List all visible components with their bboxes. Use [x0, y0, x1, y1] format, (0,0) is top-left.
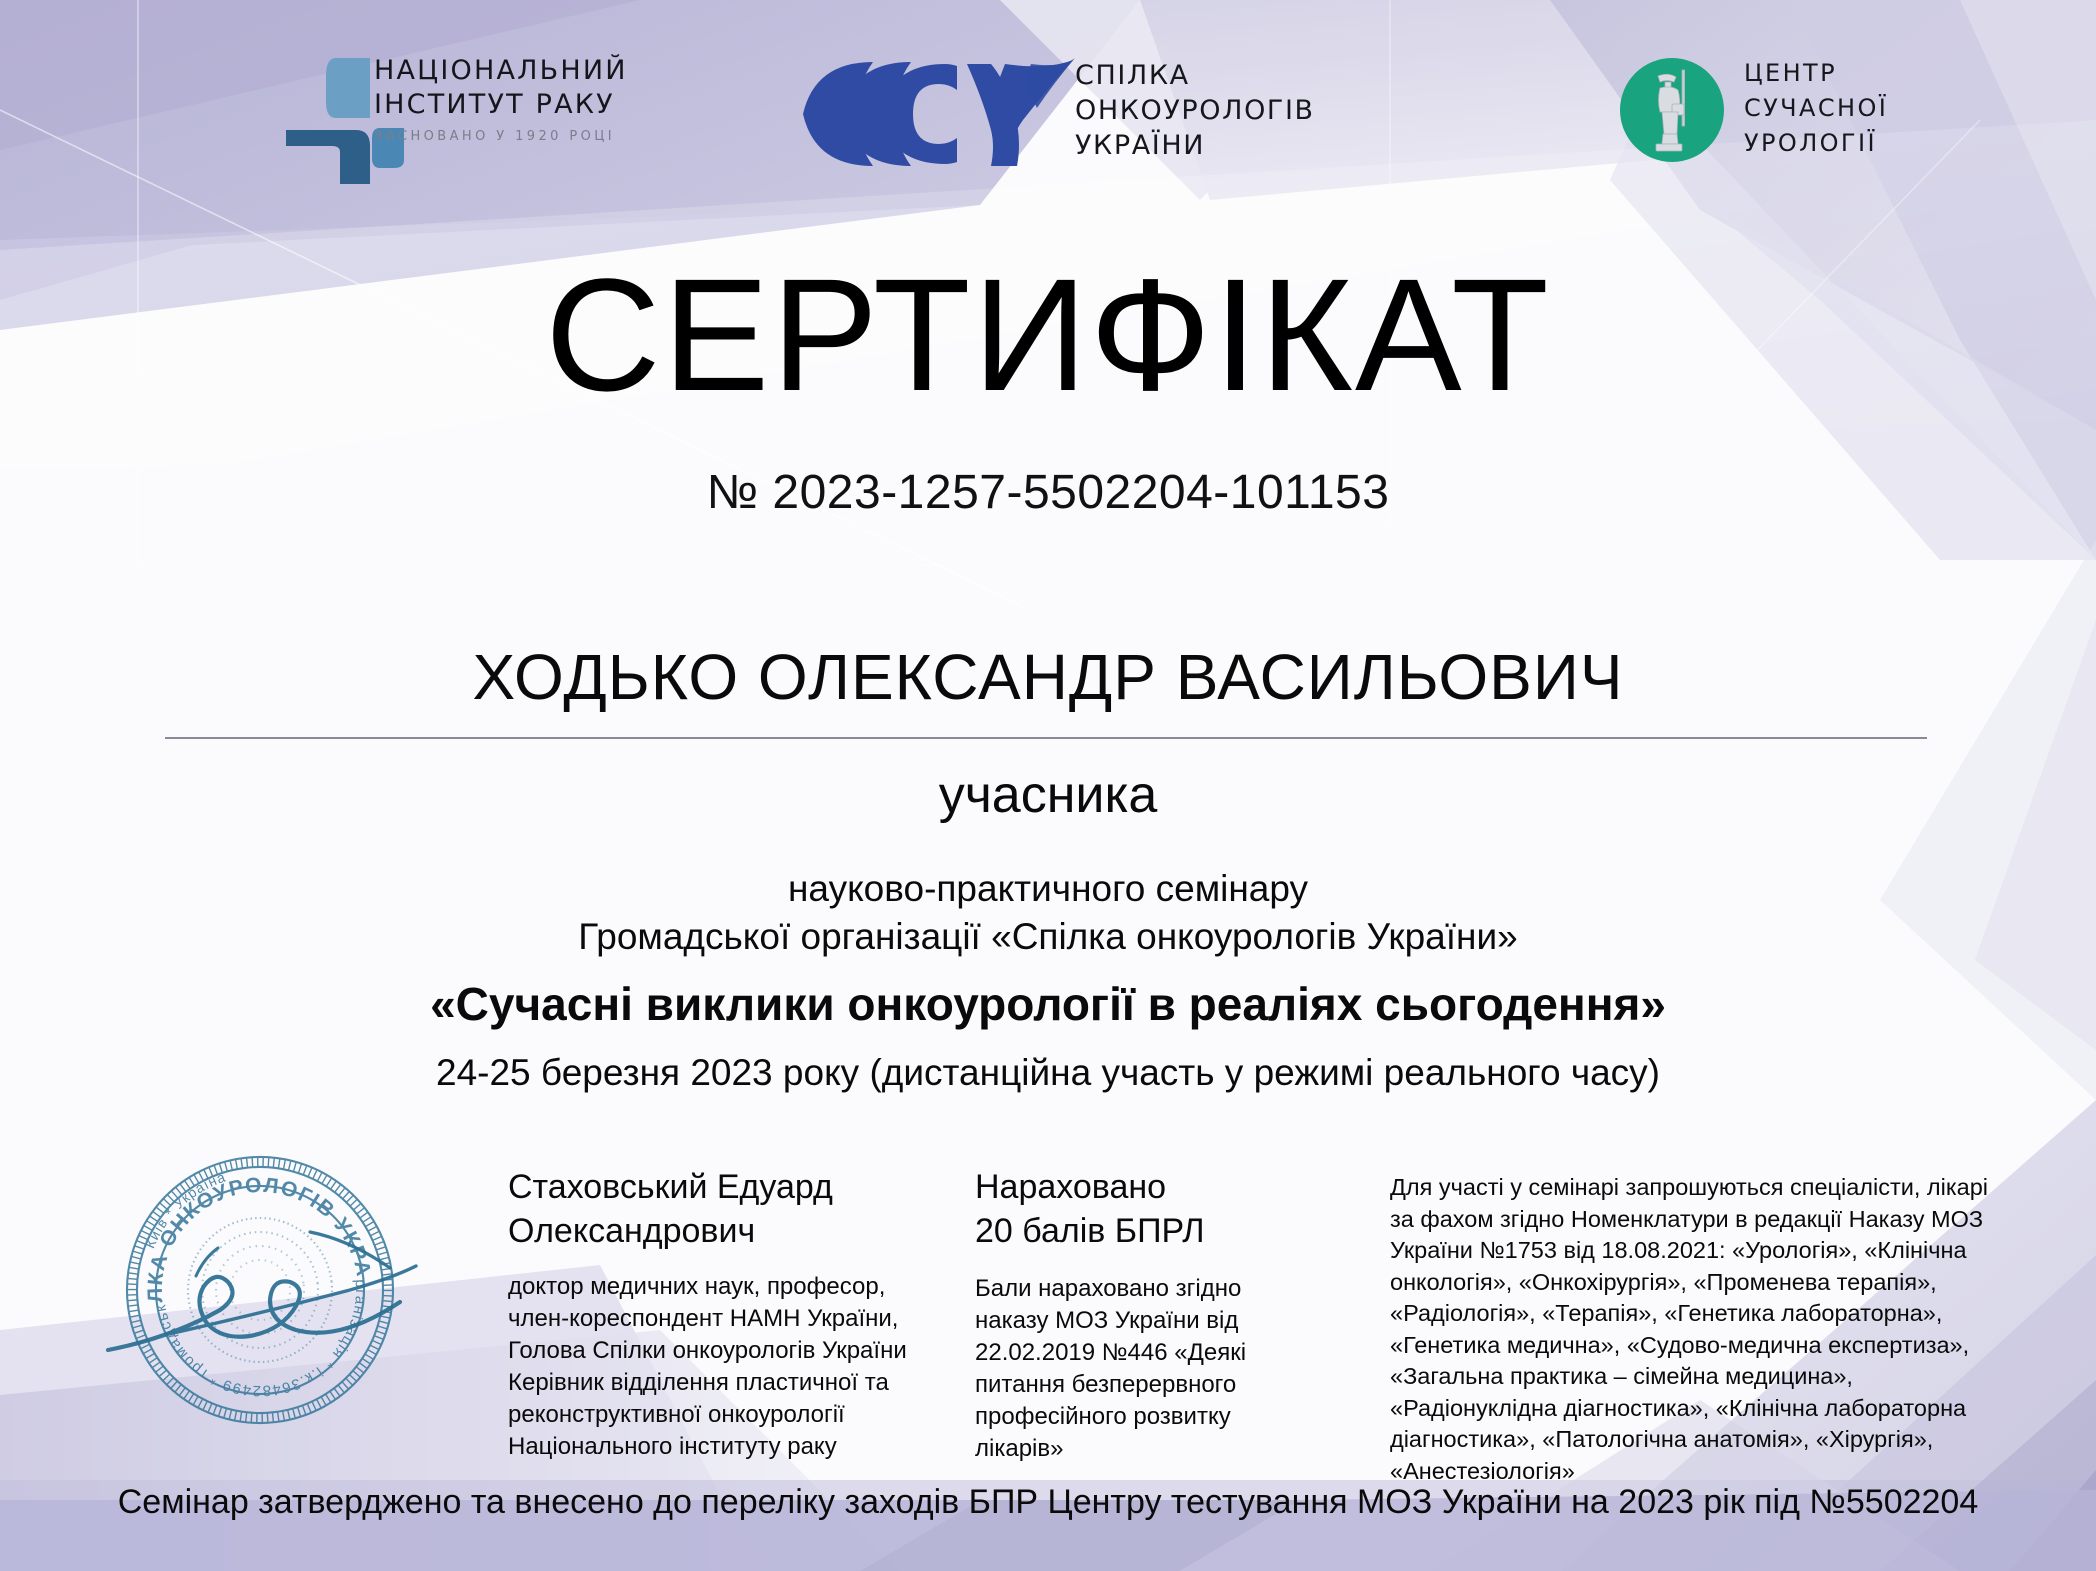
footer-note: Семінар затверджено та внесено до перелі… — [0, 1483, 2096, 1522]
logo-row: НАЦІОНАЛЬНИЙ ІНСТИТУТ РАКУ ЗАСНОВАНО У 1… — [0, 0, 2096, 200]
official-stamp-icon: СПІЛКА ОНКОУРОЛОГІВ УКРАЇНИ організація … — [100, 1140, 420, 1440]
sou-line-2: ОНКОУРОЛОГІВ — [1075, 93, 1315, 128]
event-line-1: науково-практичного семінару — [0, 865, 2096, 913]
signatory-name-line-2: Олександрович — [508, 1209, 928, 1253]
certificate-canvas: НАЦІОНАЛЬНИЙ ІНСТИТУТ РАКУ ЗАСНОВАНО У 1… — [0, 0, 2096, 1571]
points-head-line-1: Нараховано — [975, 1165, 1305, 1209]
points-description: Бали нараховано згідно наказу МОЗ Україн… — [975, 1273, 1305, 1465]
recipient-role: учасника — [0, 765, 2096, 825]
logo-national-cancer-institute: НАЦІОНАЛЬНИЙ ІНСТИТУТ РАКУ ЗАСНОВАНО У 1… — [284, 44, 704, 194]
nci-line-3: ЗАСНОВАНО У 1920 РОЦІ — [374, 129, 628, 144]
sou-mark-icon — [795, 58, 1075, 170]
signatory-block: Стаховський Едуард Олександрович доктор … — [508, 1165, 928, 1463]
name-divider — [165, 737, 1927, 739]
event-title: «Сучасні виклики онкоурології в реаліях … — [0, 975, 2096, 1033]
nci-line-1: НАЦІОНАЛЬНИЙ — [374, 54, 628, 88]
nci-line-2: ІНСТИТУТ РАКУ — [374, 88, 628, 122]
signatory-description: доктор медичних наук, професор, член-кор… — [508, 1271, 928, 1463]
specialties-block: Для участі у семінарі запрошуються спеці… — [1390, 1172, 1990, 1487]
svg-text:СПІЛКА ОНКОУРОЛОГІВ УКРАЇНИ: СПІЛКА ОНКОУРОЛОГІВ УКРАЇНИ — [100, 1140, 376, 1311]
points-block: Нараховано 20 балів БПРЛ Бали нараховано… — [975, 1165, 1305, 1465]
event-block: науково-практичного семінару Громадської… — [0, 865, 2096, 1097]
cmu-line-3: УРОЛОГІЇ — [1744, 126, 1888, 161]
specialties-text: Для участі у семінарі запрошуються спеці… — [1390, 1172, 1990, 1487]
event-dates: 24-25 березня 2023 року (дистанційна уча… — [0, 1049, 2096, 1097]
sou-line-3: УКРАЇНИ — [1075, 128, 1315, 163]
recipient-name: ХОДЬКО ОЛЕКСАНДР ВАСИЛЬОВИЧ — [0, 640, 2096, 714]
signatory-name-line-1: Стаховський Едуард — [508, 1165, 928, 1209]
logo-union-oncourologists: СПІЛКА ОНКОУРОЛОГІВ УКРАЇНИ — [795, 50, 1355, 180]
points-head-line-2: 20 балів БПРЛ — [975, 1209, 1305, 1253]
cmu-line-2: СУЧАСНОЇ — [1744, 91, 1888, 126]
logo-center-modern-urology: ЦЕНТР СУЧАСНОЇ УРОЛОГІЇ — [1620, 58, 2020, 183]
cmu-line-1: ЦЕНТР — [1744, 56, 1888, 91]
event-line-2: Громадської організації «Спілка онкоурол… — [0, 913, 2096, 961]
certificate-title: СЕРТИФІКАТ — [0, 250, 2096, 420]
certificate-number: № 2023-1257-5502204-101153 — [0, 465, 2096, 520]
sou-line-1: СПІЛКА — [1075, 58, 1315, 93]
cmu-statue-icon — [1648, 68, 1696, 154]
